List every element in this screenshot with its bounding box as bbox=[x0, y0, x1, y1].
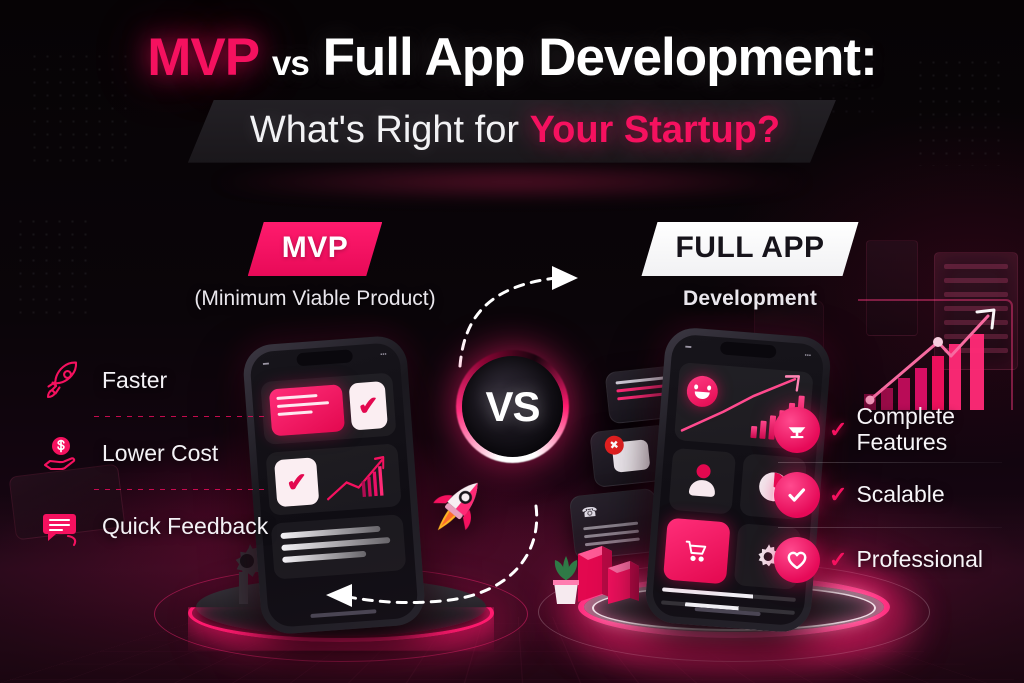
feature-separator bbox=[94, 489, 264, 490]
phone-notch bbox=[296, 349, 353, 366]
app-tile-icon: ✖ bbox=[612, 439, 651, 473]
feature-label-line2: Features bbox=[856, 429, 947, 455]
feature-label: Scalable bbox=[856, 482, 944, 508]
mvp-badge-subtitle: (Minimum Viable Product) bbox=[150, 287, 480, 311]
feature-label: Complete Features bbox=[856, 404, 954, 456]
vs-badge: VS bbox=[456, 350, 569, 463]
check-tile: ✔ bbox=[349, 381, 388, 431]
status-bar-right: ••• bbox=[380, 352, 387, 358]
notification-badge: ✖ bbox=[604, 435, 625, 456]
check-icon: ✓ bbox=[829, 484, 847, 506]
feature-label: Quick Feedback bbox=[102, 513, 268, 540]
fullapp-feature-list: ✓ Complete Features ✓ Scalable bbox=[774, 404, 1010, 586]
feature-row-lower-cost: Lower Cost bbox=[38, 425, 286, 481]
mvp-feature-list: Faster Lower Cost Quick bbox=[38, 352, 286, 554]
shopping-cart-icon bbox=[682, 536, 711, 565]
feature-separator bbox=[94, 416, 264, 417]
check-icon: ✓ bbox=[829, 549, 847, 571]
feature-label-line1: Scalable bbox=[856, 481, 944, 507]
status-bar-right: ••• bbox=[804, 353, 811, 359]
title-block: MVP vs Full App Development: What's Righ… bbox=[0, 30, 1024, 163]
mini-chart bbox=[323, 452, 393, 504]
user-profile-tile bbox=[668, 448, 736, 515]
status-bar-left: ▬ bbox=[685, 343, 691, 349]
subtitle-banner: What's Right for Your Startup? bbox=[188, 100, 836, 163]
phone-icon: ☎ bbox=[581, 499, 646, 522]
vs-label: VS bbox=[485, 383, 539, 431]
phone-notch bbox=[720, 341, 777, 358]
feature-separator bbox=[778, 462, 1002, 463]
feature-separator bbox=[778, 527, 1002, 528]
feature-row-professional: ✓ Professional bbox=[774, 534, 1010, 586]
title-mvp-word: MVP bbox=[147, 28, 258, 87]
infographic-canvas: MVP vs Full App Development: What's Righ… bbox=[0, 0, 1024, 683]
page-subtitle: What's Right for Your Startup? bbox=[250, 109, 780, 152]
vs-core: VS bbox=[462, 356, 563, 457]
feature-label: Lower Cost bbox=[102, 440, 218, 467]
toolbox-icon bbox=[774, 407, 820, 453]
mvp-badge-block: MVP (Minimum Viable Product) bbox=[150, 222, 480, 311]
rocket-icon bbox=[38, 356, 86, 404]
subtitle-lead: What's Right for bbox=[250, 109, 530, 151]
page-title: MVP vs Full App Development: bbox=[0, 30, 1024, 86]
title-fullapp-words: Full App Development: bbox=[323, 28, 877, 87]
chat-bubble-icon bbox=[38, 502, 86, 550]
heart-icon bbox=[774, 537, 820, 583]
feature-row-quick-feedback: Quick Feedback bbox=[38, 498, 286, 554]
check-icon: ✓ bbox=[829, 419, 847, 441]
fullapp-badge-chip: FULL APP bbox=[641, 222, 858, 276]
potted-plant-graphic bbox=[546, 552, 586, 608]
title-vs-word: vs bbox=[272, 44, 309, 83]
check-gear-icon bbox=[774, 472, 820, 518]
feature-label-line1: Complete bbox=[856, 403, 954, 429]
shopping-cart-tile bbox=[663, 518, 731, 585]
dot-pattern-mid-left bbox=[14, 215, 92, 320]
user-avatar-icon bbox=[686, 463, 719, 499]
feature-row-scalable: ✓ Scalable bbox=[774, 469, 1010, 521]
rocket-3d-graphic bbox=[423, 469, 495, 541]
feature-label-line1: Professional bbox=[856, 546, 983, 572]
mvp-badge-chip: MVP bbox=[248, 222, 383, 276]
feature-row-faster: Faster bbox=[38, 352, 286, 408]
feature-label: Faster bbox=[102, 367, 167, 394]
feature-label: Professional bbox=[856, 547, 983, 573]
feature-row-complete-features: ✓ Complete Features bbox=[774, 404, 1010, 456]
hand-dollar-icon bbox=[38, 429, 86, 477]
subtitle-highlight: Your Startup? bbox=[530, 109, 781, 151]
title-glow bbox=[202, 168, 822, 196]
